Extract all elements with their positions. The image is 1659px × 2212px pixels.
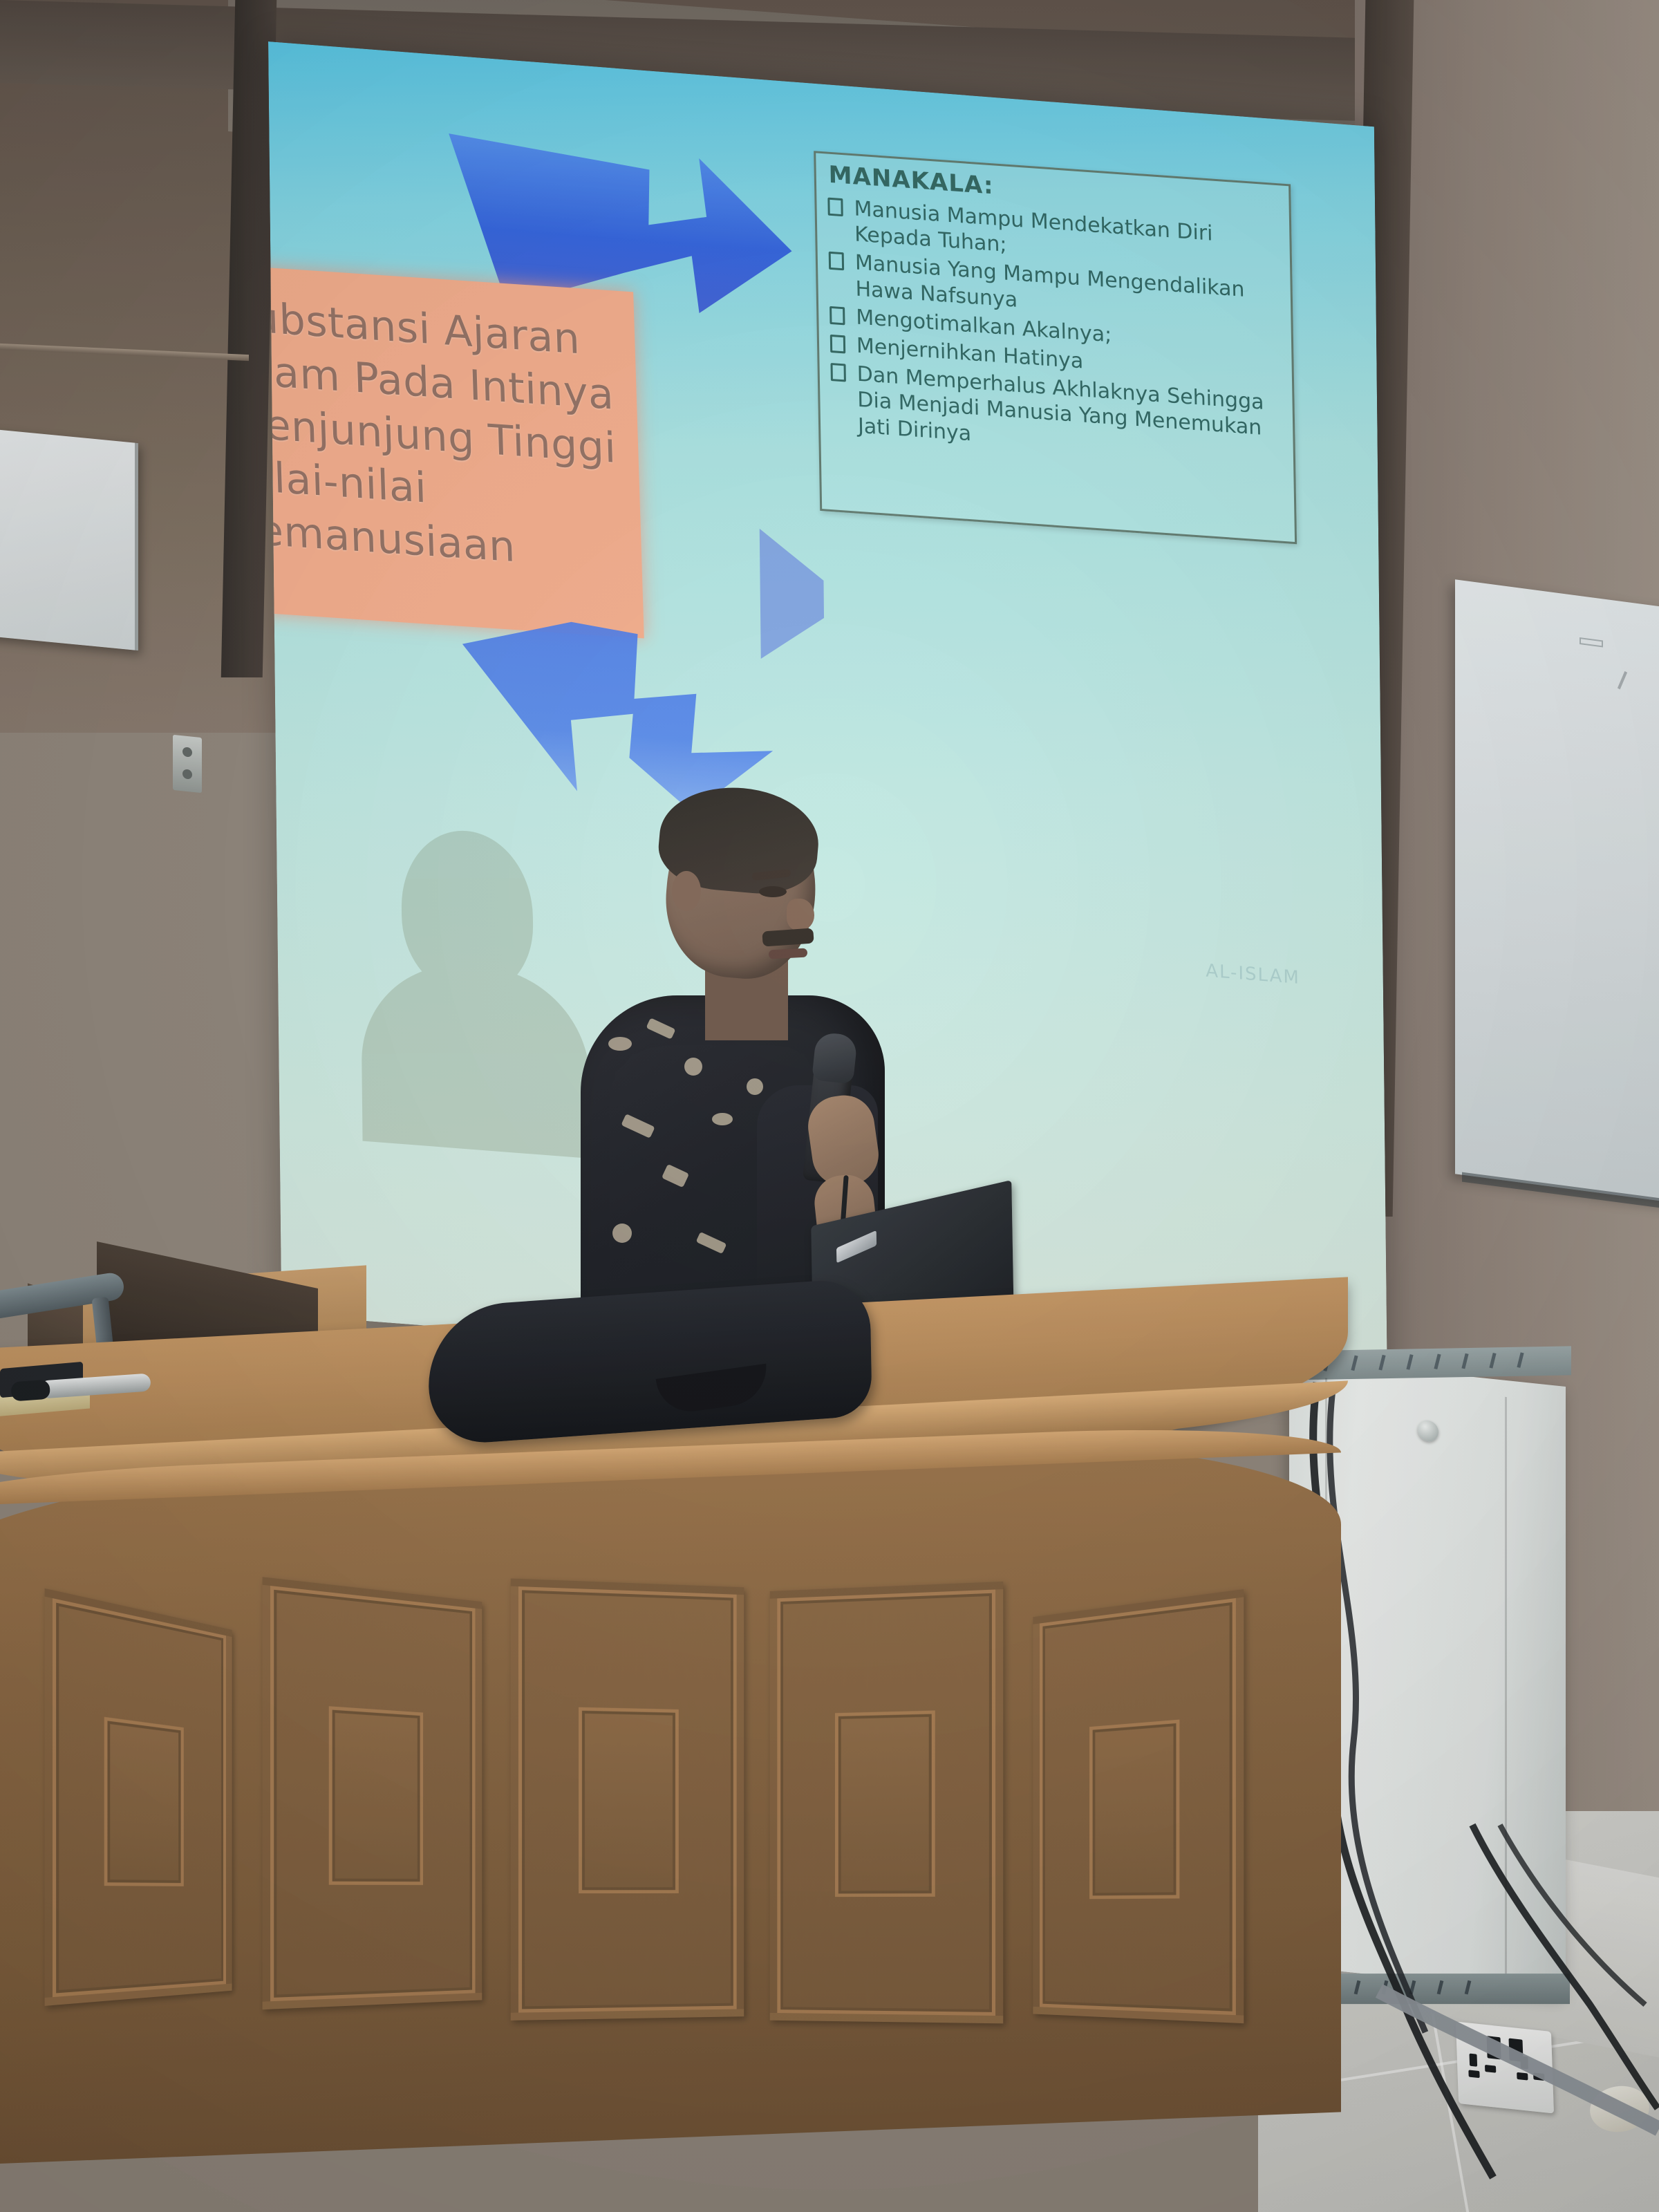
- audience-head-shadow: [359, 823, 591, 1159]
- whiteboard-hinge: [173, 735, 202, 793]
- marker-cap-icon: [10, 1380, 50, 1402]
- whiteboard-right: [1455, 579, 1659, 1203]
- checkbox-icon: [827, 198, 843, 217]
- slide-text-box: MANAKALA: Manusia Mampu Mendekatkan Diri…: [814, 151, 1297, 544]
- presenter-moustache: [762, 928, 814, 946]
- presenter-mouth: [769, 948, 808, 959]
- checkbox-icon: [830, 335, 845, 354]
- cabinet-door-seam: [1505, 1397, 1507, 1978]
- whiteboard-smudge-icon: [1580, 637, 1603, 647]
- checkbox-icon: [830, 363, 845, 382]
- podium-panel: [770, 1582, 1004, 2023]
- slide-callout-box: Substansi Ajaran Islam Pada Intinya Menj…: [268, 263, 644, 639]
- slide-watermark: AL-ISLAM: [1206, 961, 1300, 989]
- slide-callout-text: Substansi Ajaran Islam Pada Intinya Menj…: [268, 290, 626, 582]
- podium-panel: [263, 1577, 482, 2009]
- checkbox-icon: [829, 306, 845, 326]
- checkbox-icon: [829, 252, 844, 271]
- lecture-hall-photo: Substansi Ajaran Islam Pada Intinya Menj…: [0, 0, 1659, 2212]
- slide-bullet-list: Manusia Mampu Mendekatkan Diri Kepada Tu…: [822, 194, 1288, 471]
- slide-text-box-title: MANAKALA:: [828, 161, 993, 200]
- presenter-eye: [759, 886, 787, 897]
- whiteboard-left: [0, 428, 138, 650]
- podium-panel: [1033, 1589, 1244, 2023]
- whiteboard-mark-icon: [1618, 671, 1627, 690]
- presenter-ear: [672, 871, 701, 911]
- laptop-badge-icon: [836, 1230, 877, 1264]
- wall-power-socket[interactable]: [1456, 2021, 1554, 2113]
- lock-icon[interactable]: [1418, 1420, 1438, 1443]
- podium-panel: [45, 1588, 232, 2006]
- podium-panel: [511, 1578, 744, 2020]
- bullet-text: Manusia Mampu Mendekatkan Diri Kepada Tu…: [854, 196, 1213, 257]
- presenter-nose: [787, 899, 814, 930]
